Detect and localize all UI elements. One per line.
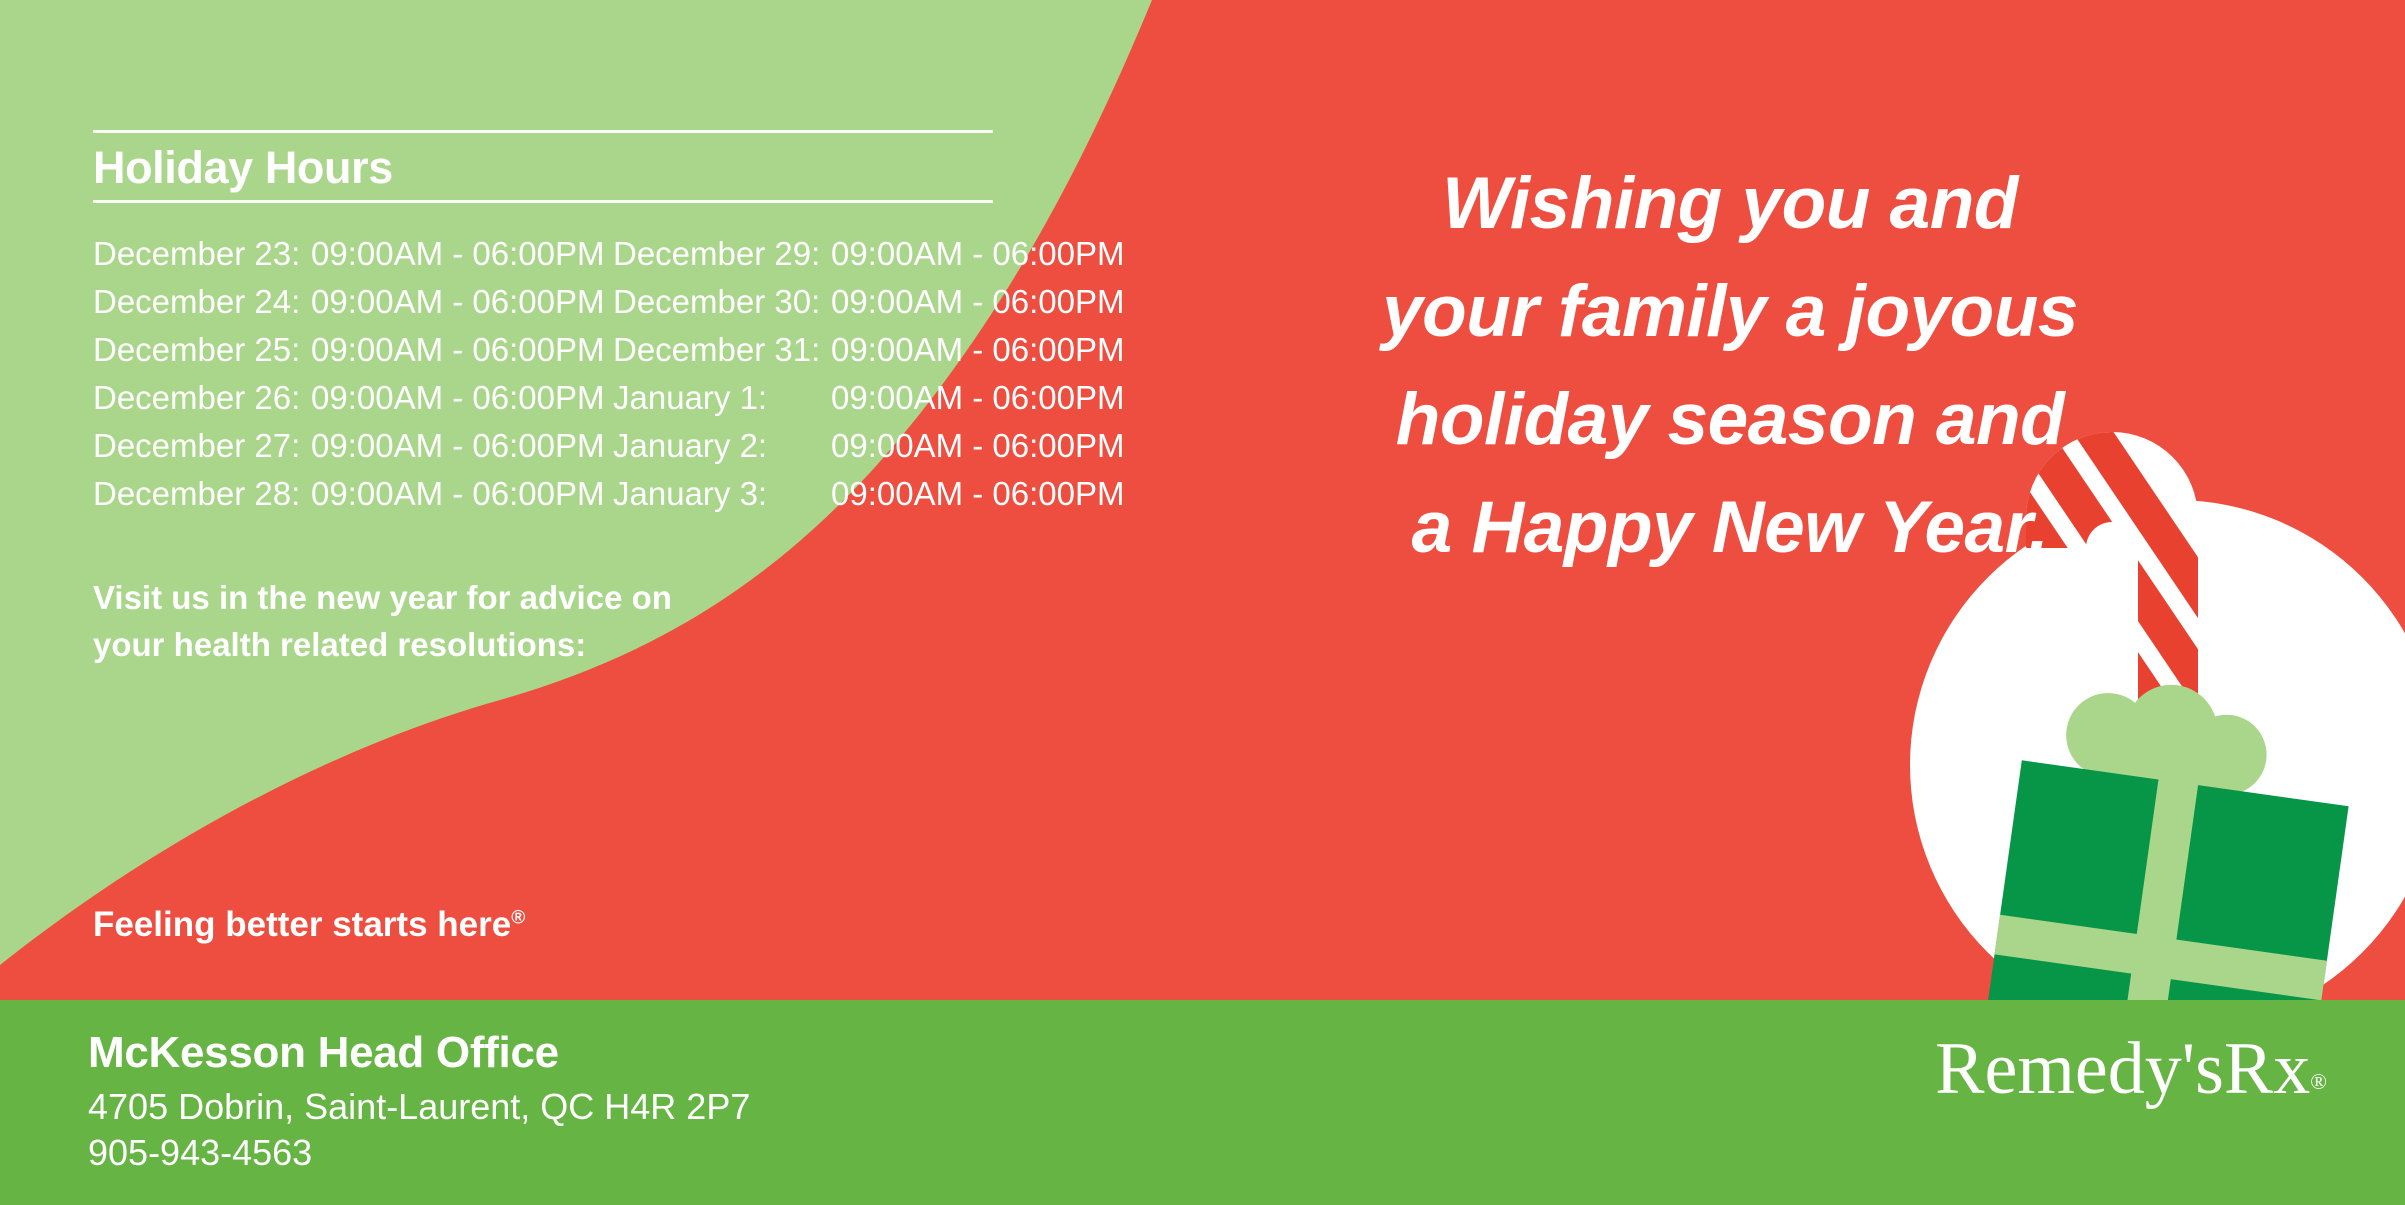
hours-day: December 27: bbox=[93, 427, 311, 465]
registered-mark-icon: ® bbox=[2310, 1069, 2327, 1094]
hours-day: December 29: bbox=[613, 235, 831, 273]
visit-note-line-2: your health related resolutions: bbox=[93, 622, 793, 669]
greeting-line-2: your family a joyous bbox=[1330, 258, 2130, 366]
hours-day: January 3: bbox=[613, 475, 831, 513]
hours-row: December 25: 09:00AM - 06:00PM bbox=[93, 331, 613, 379]
hours-time: 09:00AM - 06:00PM bbox=[831, 475, 1125, 513]
visit-note-line-1: Visit us in the new year for advice on bbox=[93, 575, 793, 622]
remedysrx-logo: Remedy'sRx® bbox=[1935, 1032, 2327, 1106]
hours-time: 09:00AM - 06:00PM bbox=[311, 283, 605, 321]
hours-day: December 30: bbox=[613, 283, 831, 321]
hours-time: 09:00AM - 06:00PM bbox=[831, 331, 1125, 369]
hours-time: 09:00AM - 06:00PM bbox=[311, 331, 605, 369]
hours-time: 09:00AM - 06:00PM bbox=[311, 475, 605, 513]
hours-row: January 3: 09:00AM - 06:00PM bbox=[613, 475, 1133, 523]
brand-tagline-text: Feeling better starts here bbox=[93, 905, 511, 944]
hours-row: December 27: 09:00AM - 06:00PM bbox=[93, 427, 613, 475]
footer-phone: 905-943-4563 bbox=[88, 1132, 312, 1174]
registered-mark-icon: ® bbox=[511, 907, 525, 928]
footer-address: 4705 Dobrin, Saint-Laurent, QC H4R 2P7 bbox=[88, 1086, 750, 1128]
hours-day: January 2: bbox=[613, 427, 831, 465]
hours-row: December 24: 09:00AM - 06:00PM bbox=[93, 283, 613, 331]
hours-day: December 23: bbox=[93, 235, 311, 273]
hours-time: 09:00AM - 06:00PM bbox=[831, 283, 1125, 321]
hours-day: December 28: bbox=[93, 475, 311, 513]
hours-day: January 1: bbox=[613, 379, 831, 417]
holiday-hours-panel: Holiday Hours December 23: 09:00AM - 06:… bbox=[93, 130, 1113, 523]
brand-tagline: Feeling better starts here® bbox=[93, 905, 525, 945]
greeting-line-1: Wishing you and bbox=[1330, 150, 2130, 258]
hours-row: January 1: 09:00AM - 06:00PM bbox=[613, 379, 1133, 427]
footer-organization: McKesson Head Office bbox=[88, 1028, 559, 1078]
hours-row: December 29: 09:00AM - 06:00PM bbox=[613, 235, 1133, 283]
greeting-message: Wishing you and your family a joyous hol… bbox=[1330, 150, 2130, 582]
remedysrx-logo-text: Remedy'sRx bbox=[1935, 1028, 2310, 1110]
hours-day: December 31: bbox=[613, 331, 831, 369]
hours-time: 09:00AM - 06:00PM bbox=[311, 379, 605, 417]
hours-time: 09:00AM - 06:00PM bbox=[831, 235, 1125, 273]
hours-row: December 28: 09:00AM - 06:00PM bbox=[93, 475, 613, 523]
holiday-hours-title: Holiday Hours bbox=[93, 133, 1113, 200]
hours-time: 09:00AM - 06:00PM bbox=[831, 379, 1125, 417]
hours-time: 09:00AM - 06:00PM bbox=[831, 427, 1125, 465]
hours-row: December 26: 09:00AM - 06:00PM bbox=[93, 379, 613, 427]
rule-bottom bbox=[93, 200, 993, 203]
hours-day: December 25: bbox=[93, 331, 311, 369]
visit-note: Visit us in the new year for advice on y… bbox=[93, 575, 793, 669]
hours-day: December 26: bbox=[93, 379, 311, 417]
rule-top bbox=[93, 130, 993, 133]
hours-time: 09:00AM - 06:00PM bbox=[311, 235, 605, 273]
hours-day: December 24: bbox=[93, 283, 311, 321]
hours-row: January 2: 09:00AM - 06:00PM bbox=[613, 427, 1133, 475]
holiday-hours-grid: December 23: 09:00AM - 06:00PM December … bbox=[93, 235, 1113, 523]
hours-row: December 23: 09:00AM - 06:00PM bbox=[93, 235, 613, 283]
holiday-card: Holiday Hours December 23: 09:00AM - 06:… bbox=[0, 0, 2405, 1205]
greeting-line-4: a Happy New Year. bbox=[1330, 474, 2130, 582]
hours-row: December 31: 09:00AM - 06:00PM bbox=[613, 331, 1133, 379]
hours-row: December 30: 09:00AM - 06:00PM bbox=[613, 283, 1133, 331]
greeting-line-3: holiday season and bbox=[1330, 366, 2130, 474]
hours-time: 09:00AM - 06:00PM bbox=[311, 427, 605, 465]
